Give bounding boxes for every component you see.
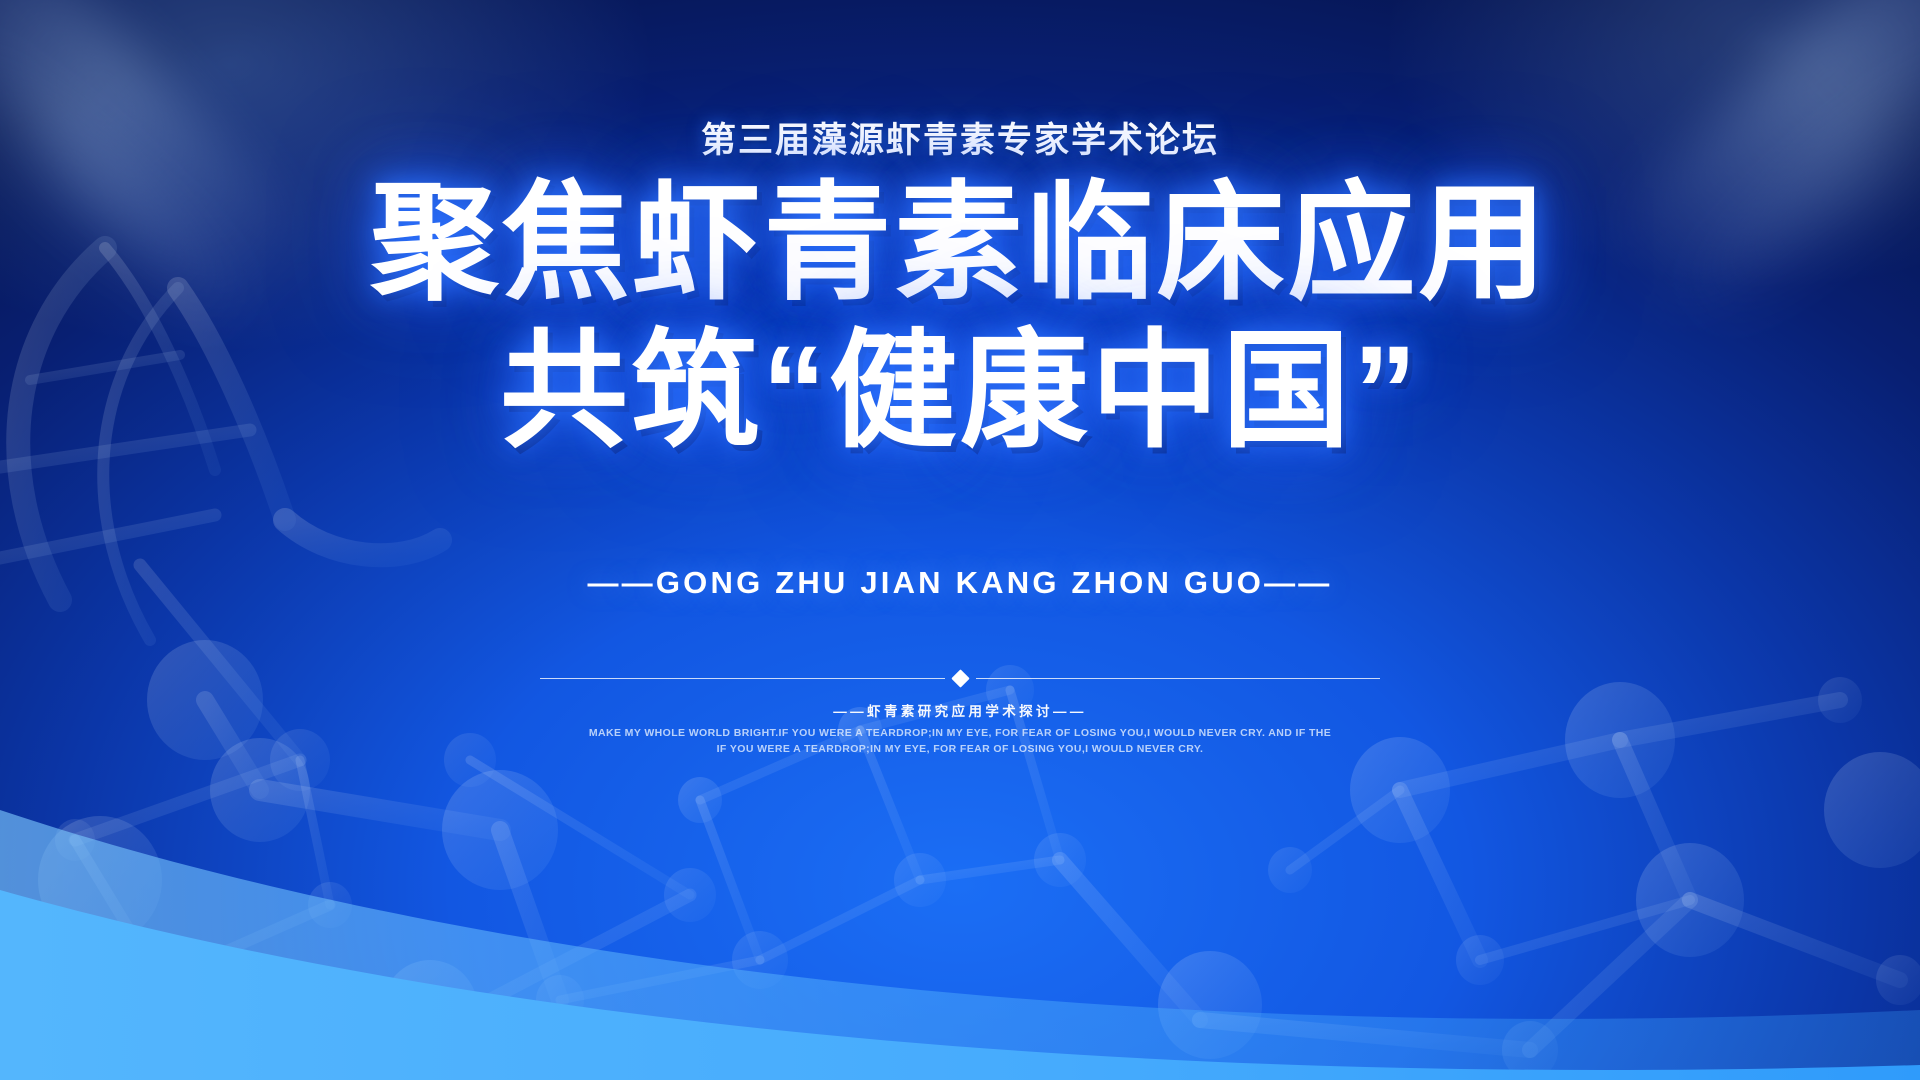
title-line-2: 共筑“健康中国” bbox=[0, 324, 1920, 460]
ornamental-divider bbox=[540, 672, 1380, 685]
divider-line-left bbox=[540, 678, 945, 679]
diamond-icon bbox=[951, 669, 969, 687]
poster-content: 第三届藻源虾青素专家学术论坛 聚焦虾青素临床应用 共筑“健康中国” ——GONG… bbox=[0, 0, 1920, 1080]
title-pinyin: ——GONG ZHU JIAN KANG ZHON GUO—— bbox=[0, 565, 1920, 601]
title-line-1: 聚焦虾青素临床应用 bbox=[0, 176, 1920, 312]
poster-canvas: 第三届藻源虾青素专家学术论坛 聚焦虾青素临床应用 共筑“健康中国” ——GONG… bbox=[0, 0, 1920, 1080]
event-eyebrow: 第三届藻源虾青素专家学术论坛 bbox=[0, 112, 1920, 163]
divider-line-right bbox=[976, 678, 1381, 679]
footnote-english-line-1: MAKE MY WHOLE WORLD BRIGHT.IF YOU WERE A… bbox=[0, 725, 1920, 741]
footnote-block: ——虾青素研究应用学术探讨—— MAKE MY WHOLE WORLD BRIG… bbox=[0, 700, 1920, 758]
page-title: 聚焦虾青素临床应用 共筑“健康中国” bbox=[0, 176, 1920, 459]
footnote-chinese: ——虾青素研究应用学术探讨—— bbox=[0, 700, 1920, 720]
footnote-english-line-2: IF YOU WERE A TEARDROP;IN MY EYE, FOR FE… bbox=[0, 741, 1920, 757]
